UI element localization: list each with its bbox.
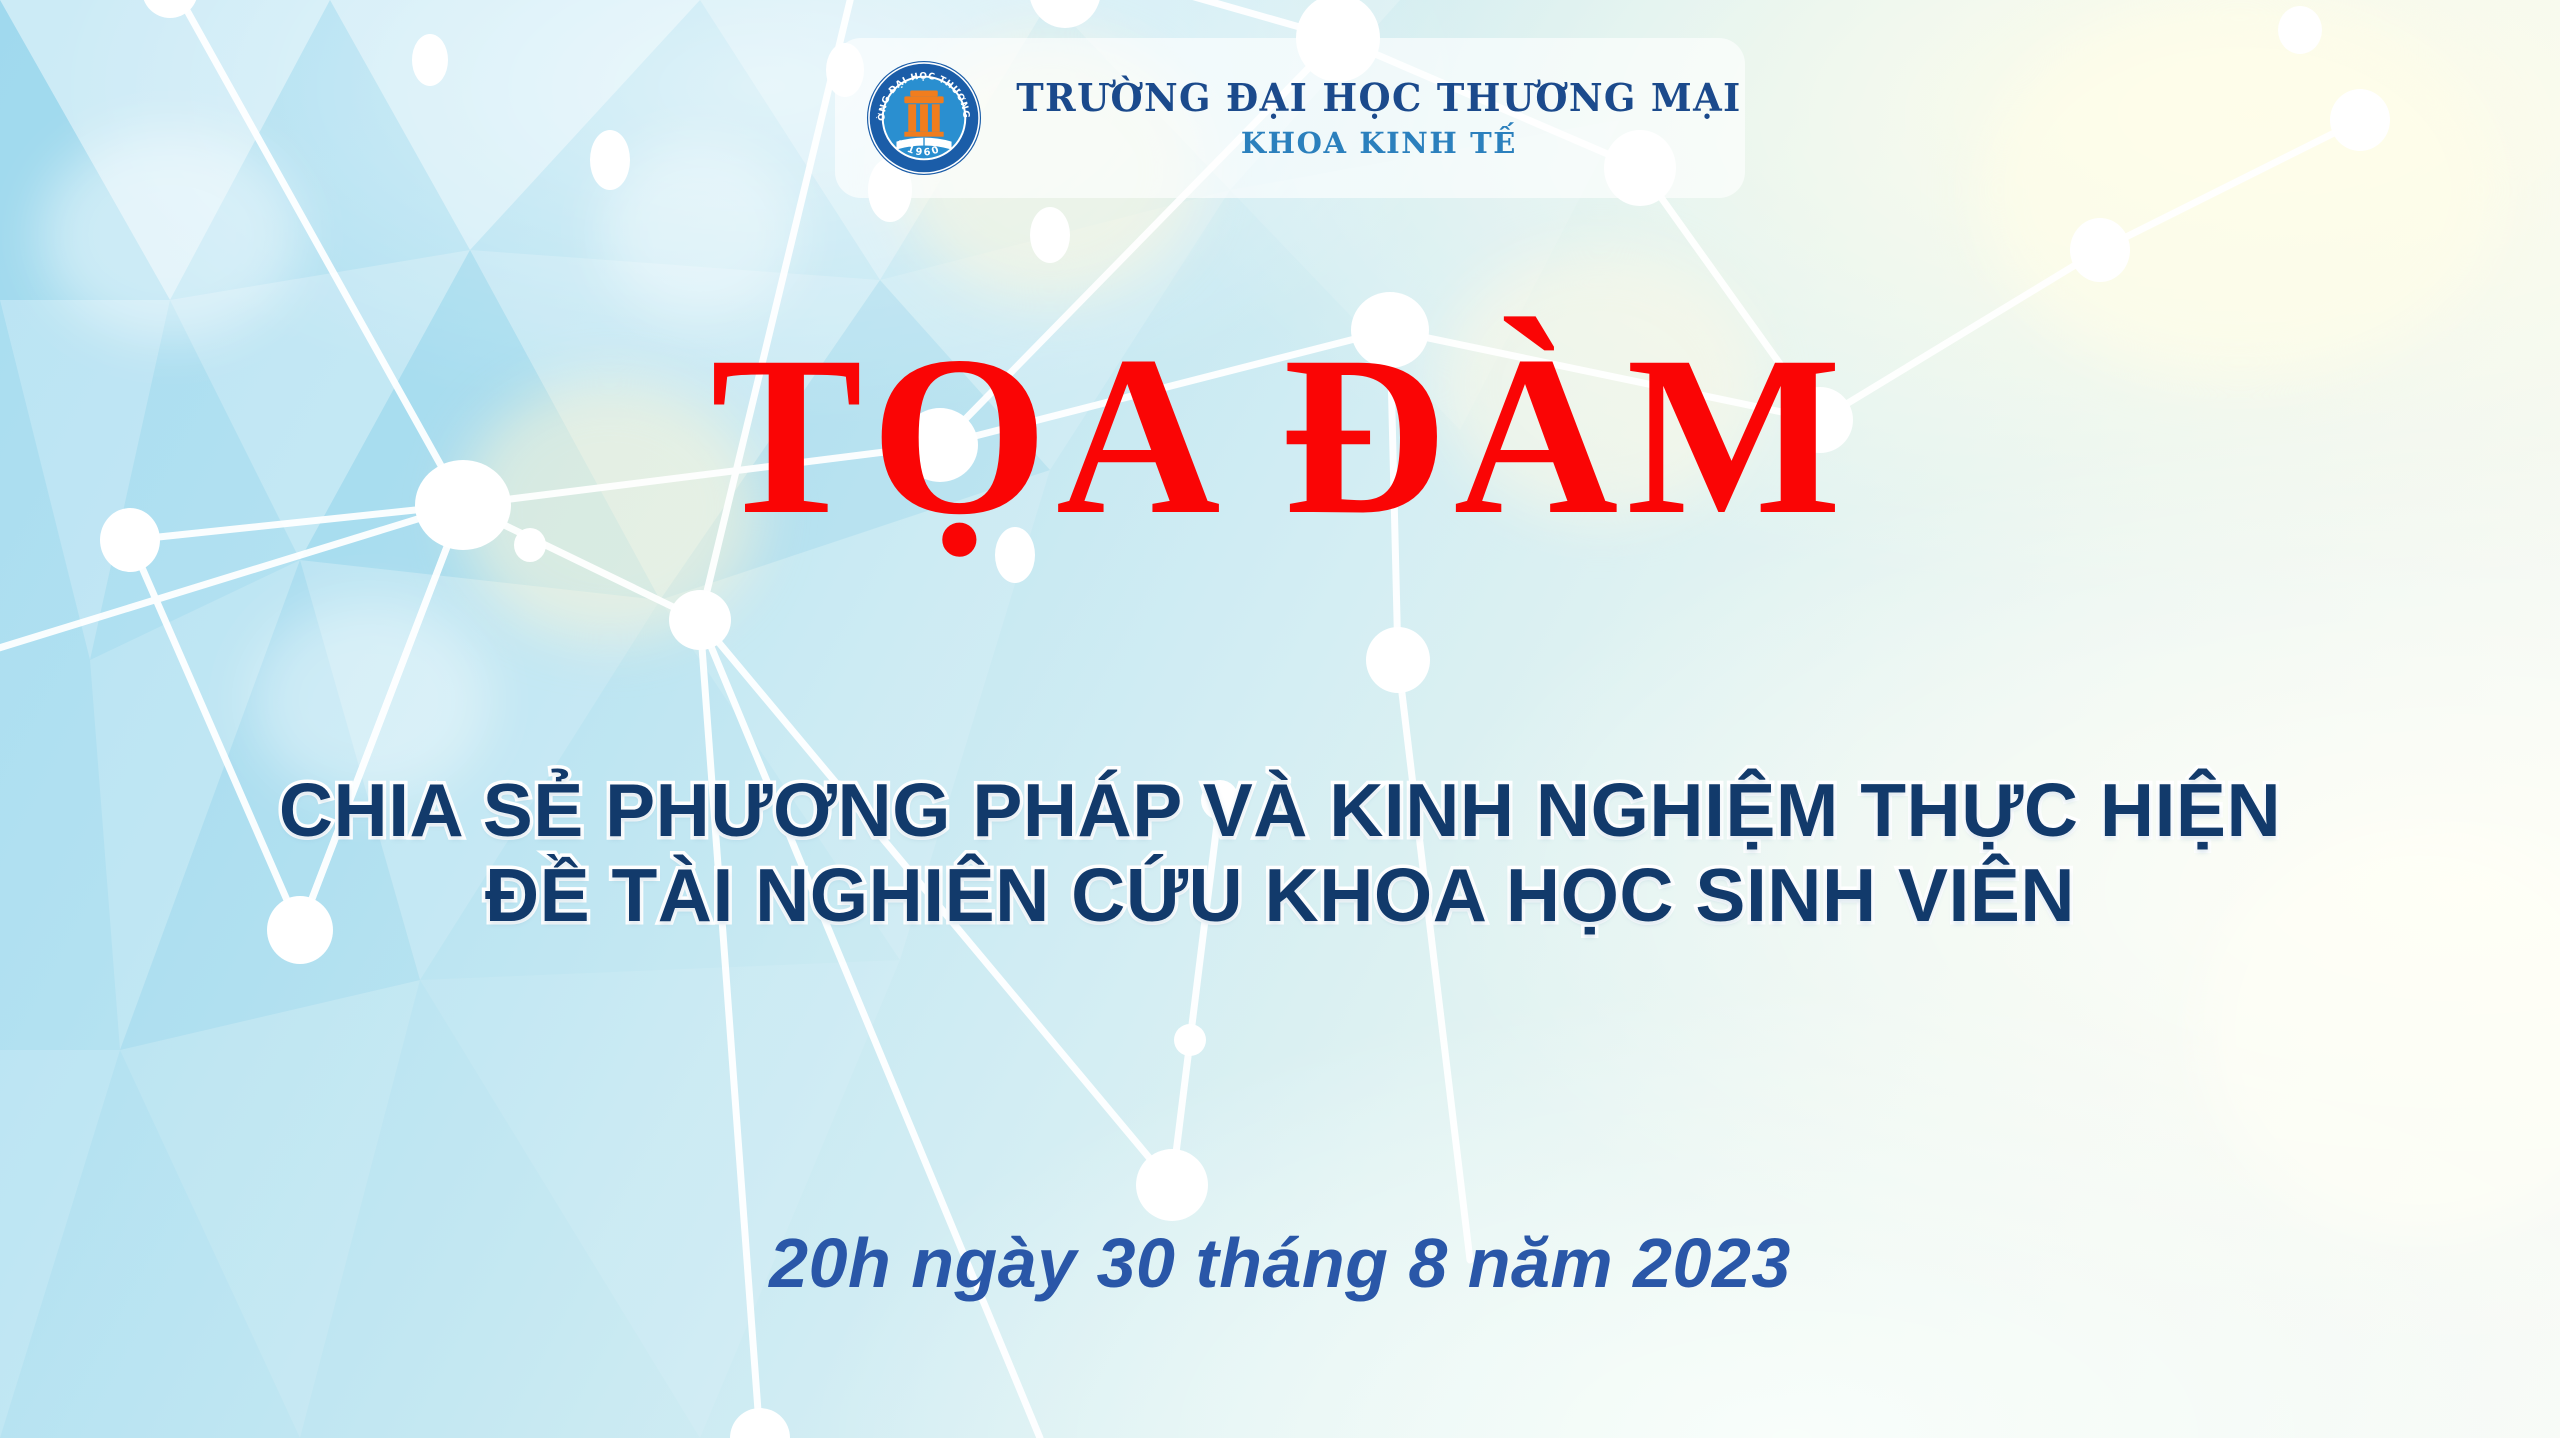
event-subtitle: CHIA SẺ PHƯƠNG PHÁP VÀ KINH NGHIỆM THỰC … (0, 768, 2560, 938)
header-plate: TRƯỜNG ĐẠI HỌC THƯƠNG MẠI • 1960 • TRƯỜN… (835, 38, 1745, 198)
event-poster: TRƯỜNG ĐẠI HỌC THƯƠNG MẠI • 1960 • TRƯỜN… (0, 0, 2560, 1438)
bokeh-glow (600, 140, 800, 320)
header-text-block: TRƯỜNG ĐẠI HỌC THƯƠNG MẠI KHOA KINH TẾ (1005, 78, 1781, 158)
university-name: TRƯỜNG ĐẠI HỌC THƯƠNG MẠI (1016, 78, 1741, 118)
subtitle-line-1: CHIA SẺ PHƯƠNG PHÁP VÀ KINH NGHIỆM THỰC … (0, 768, 2560, 853)
thuongmai-university-seal-logo: TRƯỜNG ĐẠI HỌC THƯƠNG MẠI • 1960 • (865, 59, 983, 177)
university-logo: TRƯỜNG ĐẠI HỌC THƯƠNG MẠI • 1960 • (865, 59, 983, 177)
faculty-name: KHOA KINH TẾ (1241, 129, 1517, 158)
low-poly-background (0, 0, 2560, 1438)
subtitle-line-2: ĐỀ TÀI NGHIÊN CỨU KHOA HỌC SINH VIÊN (0, 853, 2560, 938)
network-node-pattern (0, 0, 2560, 1438)
bokeh-glow (40, 130, 300, 340)
page-title: TỌA ĐÀM (0, 322, 2560, 550)
event-datetime: 20h ngày 30 tháng 8 năm 2023 (0, 1228, 2560, 1298)
